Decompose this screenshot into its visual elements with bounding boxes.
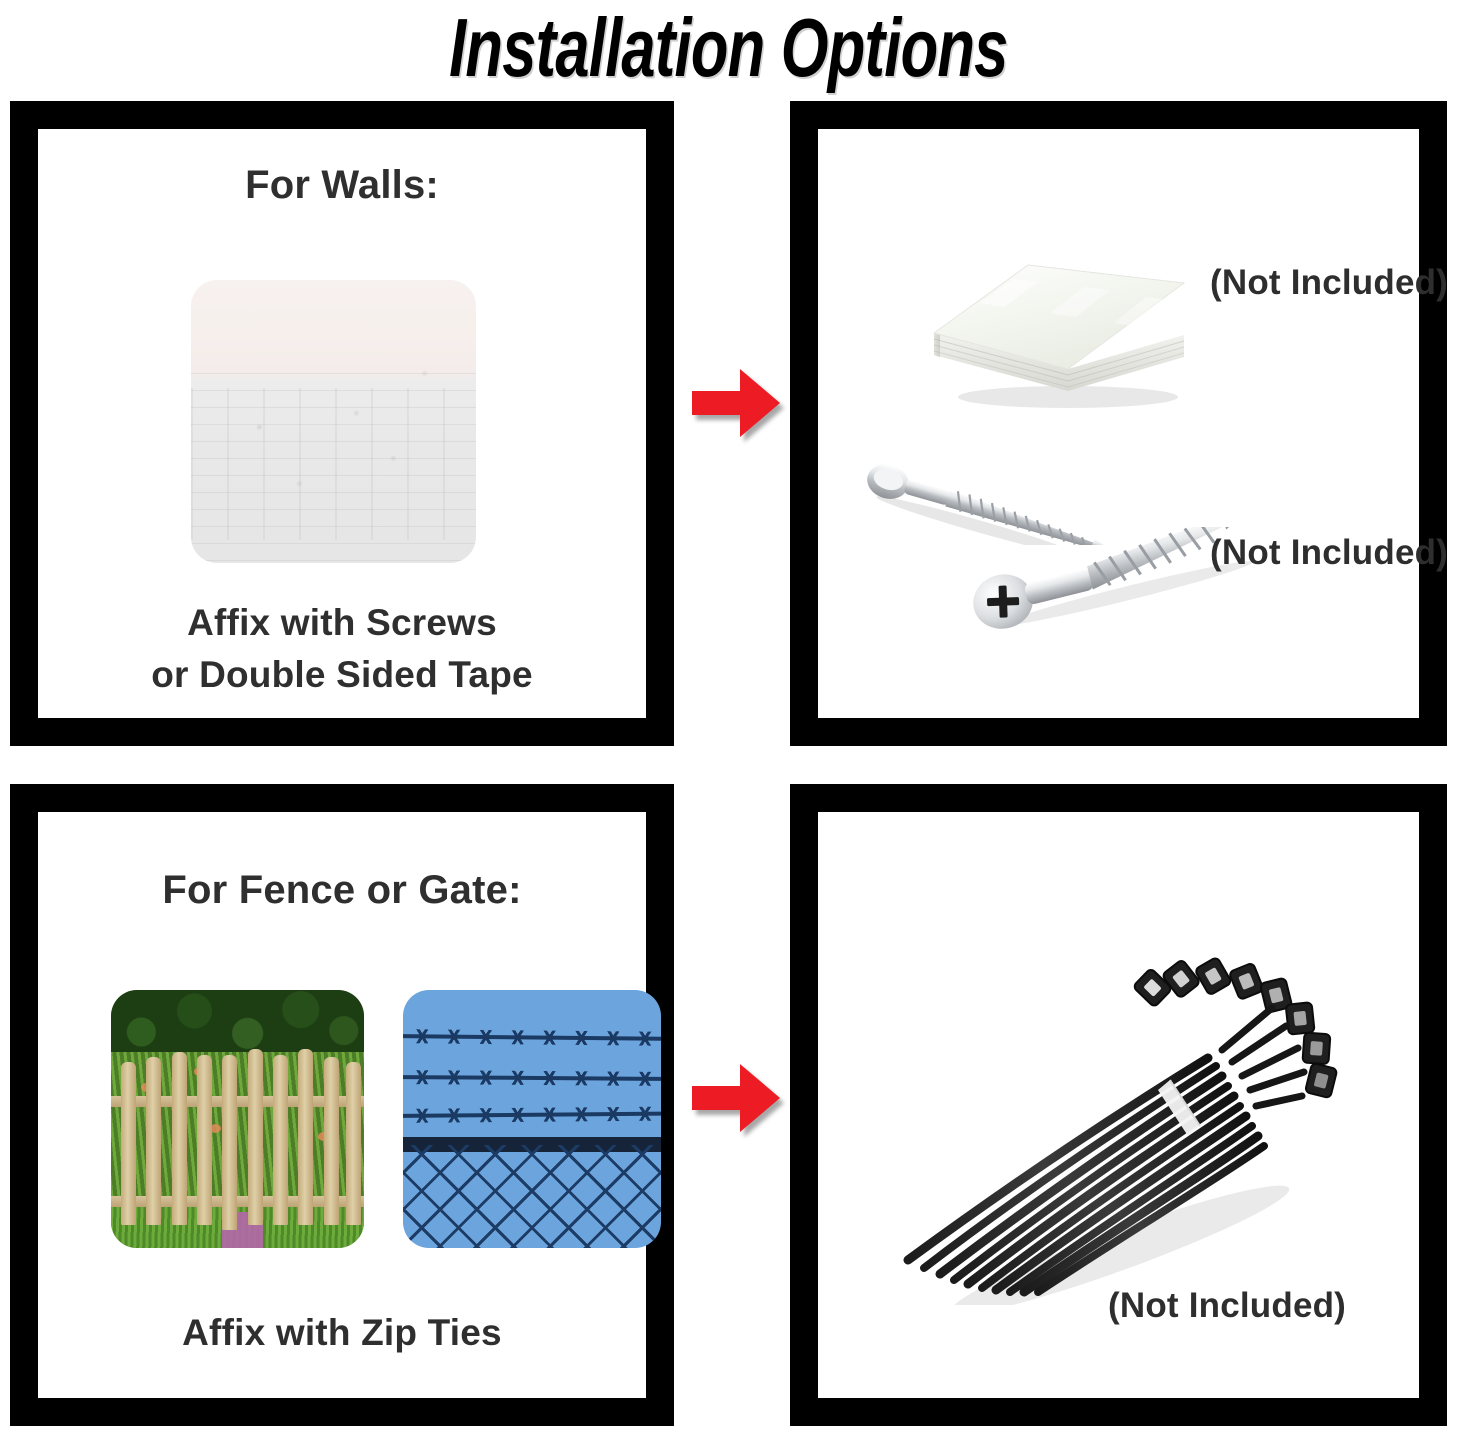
fence-picket (346, 1062, 361, 1225)
picket-fence-photo (111, 990, 364, 1248)
panel-for-fence-or-gate: For Fence or Gate: (10, 784, 674, 1426)
fence-picket (298, 1049, 313, 1224)
fence-picket (273, 1055, 288, 1225)
fence-picket (197, 1055, 212, 1225)
fence-picket (172, 1052, 187, 1225)
chain-link-mesh (403, 1145, 661, 1248)
zip-ties-bundle-image (870, 930, 1370, 1305)
fence-picket (222, 1055, 237, 1230)
fence-picket (121, 1062, 136, 1225)
tape-not-included-label: (Not Included) (1210, 263, 1448, 303)
panel-wall-hardware: (Not Included) (790, 101, 1447, 746)
screws-not-included-label: (Not Included) (1210, 533, 1448, 573)
page-title: Installation Options (449, 5, 1007, 91)
white-brick-wall-photo (191, 280, 476, 563)
fence-picket (146, 1057, 161, 1225)
right-arrow-icon-top (690, 365, 782, 441)
title-bar: Installation Options (0, 0, 1457, 96)
walls-caption-line-1: Affix with Screws (38, 597, 646, 649)
walls-caption: Affix with Screws or Double Sided Tape (38, 597, 646, 701)
for-walls-heading: For Walls: (38, 163, 646, 208)
zipties-not-included-label: (Not Included) (1108, 1286, 1346, 1326)
chain-link-barbed-wire-photo (403, 990, 661, 1248)
barbed-wire-line (403, 1034, 661, 1041)
panel-fence-hardware: (Not Included) (790, 784, 1447, 1426)
double-sided-tape-stack-image (918, 251, 1196, 415)
walls-caption-line-2: or Double Sided Tape (38, 649, 646, 701)
barbed-wire-line (403, 1111, 661, 1117)
fence-picket (248, 1049, 263, 1224)
fence-caption: Affix with Zip Ties (38, 1307, 646, 1359)
brick-speckle-texture (191, 280, 476, 563)
barbed-wire-line (403, 1075, 661, 1081)
for-fence-or-gate-heading: For Fence or Gate: (38, 868, 646, 913)
panel-for-walls: For Walls: Affix with Screws or Double S… (10, 101, 674, 746)
fence-picket (324, 1057, 339, 1225)
hedge-layer (111, 990, 364, 1060)
right-arrow-icon-bottom (690, 1060, 782, 1136)
